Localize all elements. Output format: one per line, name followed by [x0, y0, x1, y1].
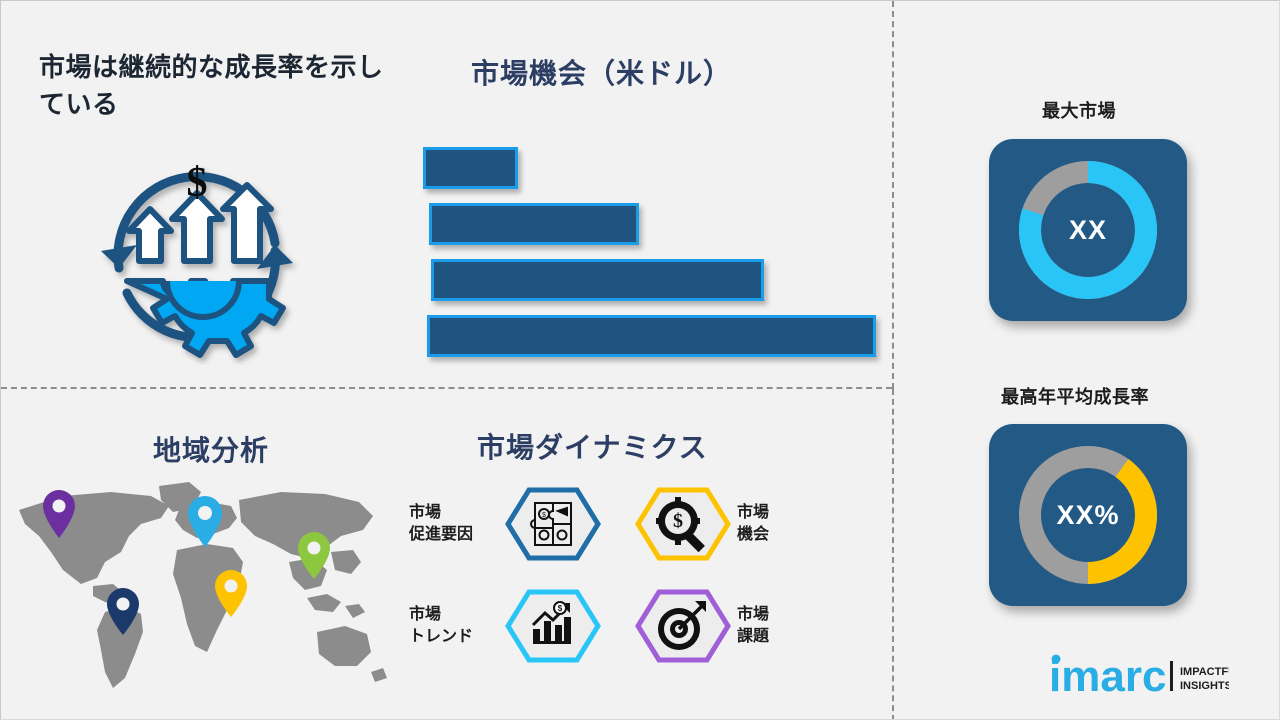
- donut-card-largest-market: XX: [989, 139, 1187, 321]
- dynamics-label-drivers: 市場 促進要因: [409, 502, 499, 545]
- svg-text:$: $: [673, 510, 683, 532]
- growth-bar-chart-icon: $: [505, 589, 601, 663]
- page-title: 市場は継続的な成長率を示している: [39, 49, 384, 123]
- dynamics-item-drivers[interactable]: 市場 促進要因 $: [409, 487, 601, 561]
- dynamics-row-bottom: 市場 トレンド $: [409, 589, 823, 663]
- logo-tagline-line1: IMPACTFUL: [1180, 666, 1229, 678]
- dynamics-label-trends: 市場 トレンド: [409, 604, 499, 647]
- imarc-logo: imarc IMPACTFUL INSIGHTS: [1049, 649, 1229, 705]
- logo-wordmark: imarc: [1049, 652, 1166, 701]
- growth-cycle-gear-icon: $: [79, 133, 315, 365]
- section-heading-dynamics: 市場ダイナミクス: [477, 426, 708, 466]
- divider-vertical-bottom: [892, 389, 894, 720]
- target-arrow-icon: [635, 589, 731, 663]
- section-heading-opportunity: 市場機会（米ドル）: [471, 52, 732, 92]
- bar-row: [429, 203, 639, 245]
- bar-row: [431, 259, 764, 301]
- logo-divider: [1170, 661, 1173, 691]
- donut-chart-largest-market: [1008, 150, 1168, 310]
- magnifier-dollar-icon: $: [635, 487, 731, 561]
- dynamics-row-top: 市場 促進要因 $: [409, 487, 823, 561]
- donut-card-highest-cagr: XX%: [989, 424, 1187, 606]
- world-map: [1, 466, 401, 696]
- dynamics-item-challenges[interactable]: 市場 課題: [635, 589, 823, 663]
- divider-horizontal: [1, 387, 892, 389]
- bar-row: [427, 315, 876, 357]
- logo-dot: [1052, 655, 1061, 664]
- bar-row: [423, 147, 518, 189]
- donut-chart-highest-cagr: [1008, 435, 1168, 595]
- donut-label-highest-cagr: 最高年平均成長率: [1001, 383, 1149, 409]
- donut-label-largest-market: 最大市場: [1042, 97, 1116, 123]
- svg-text:$: $: [558, 604, 563, 613]
- puzzle-pieces-icon: $: [505, 487, 601, 561]
- dynamics-label-opportunities: 市場 機会: [737, 502, 823, 545]
- logo-tagline-line2: INSIGHTS: [1180, 680, 1229, 692]
- slide-canvas: 市場は継続的な成長率を示している $ 市場機会（米ドル）: [0, 0, 1280, 720]
- svg-text:$: $: [187, 160, 208, 206]
- dynamics-item-opportunities[interactable]: $ 市場 機会: [635, 487, 823, 561]
- dynamics-label-challenges: 市場 課題: [737, 604, 823, 647]
- divider-vertical-top: [892, 1, 894, 389]
- market-opportunity-bar-chart: [421, 147, 881, 347]
- section-heading-regional: 地域分析: [153, 429, 269, 469]
- dynamics-item-trends[interactable]: 市場 トレンド $: [409, 589, 601, 663]
- map-pin-europe: [188, 496, 222, 547]
- svg-text:$: $: [542, 512, 546, 519]
